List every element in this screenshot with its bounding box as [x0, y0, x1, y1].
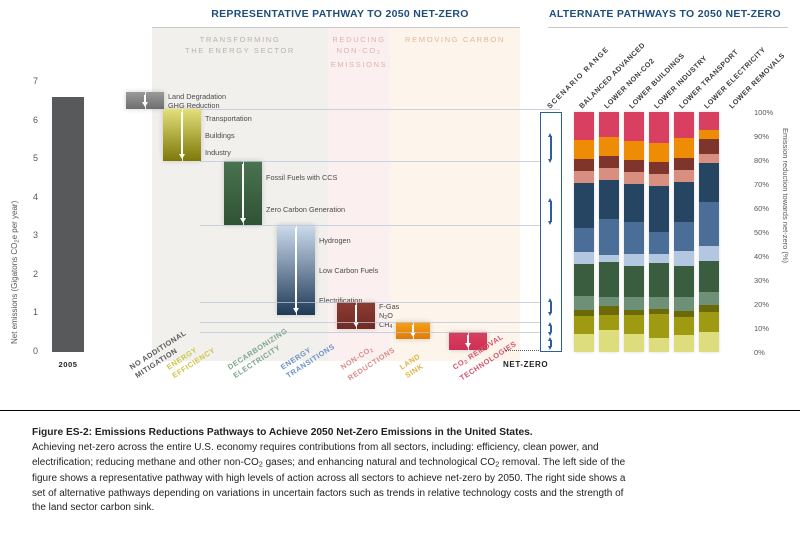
stack-segment-electrification: [624, 184, 644, 222]
stack-segment-transportation: [624, 334, 644, 352]
stacked-bar-lower-non-co2: [599, 112, 619, 352]
y-axis-tick: 5: [12, 153, 38, 163]
stack-segment-buildings: [699, 312, 719, 333]
stack-segment-low-carbon-fuels: [674, 222, 694, 251]
stack-segment-co2-removal-technologies: [624, 112, 644, 141]
stack-segment-f-gas-n2o: [574, 171, 594, 183]
stack-segment-zero-carbon-generation: [674, 266, 694, 297]
scenario-range-box: [540, 112, 562, 352]
stack-segment-land-sink: [599, 137, 619, 156]
stack-segment-co2-removal-technologies: [599, 112, 619, 137]
stack-segment-low-carbon-fuels: [699, 202, 719, 246]
stacked-bar-lower-electricity: [699, 112, 719, 352]
panel-label-line3: EMISSIONS: [331, 60, 388, 69]
stack-segment-land-sink: [674, 138, 694, 157]
stack-segment-co2-removal-technologies: [699, 112, 719, 130]
alt-x-label-scenario-range: SCENARIO RANGE: [545, 45, 611, 111]
segment-label: F-Gas: [379, 302, 399, 311]
stack-segment-buildings: [624, 315, 644, 334]
connector-gridline: [200, 161, 560, 162]
panel-label-line2: THE ENERGY SECTOR: [185, 46, 295, 55]
panel-label-removing: REMOVING CARBON: [390, 34, 520, 45]
right-axis-tick: 10%: [754, 324, 769, 333]
stack-segment-f-gas-n2o: [649, 174, 669, 186]
stack-segment-hydrogen: [599, 255, 619, 262]
connector-gridline: [200, 225, 560, 226]
stack-segment-f-gas-n2o: [674, 170, 694, 182]
panel-label-line1: REDUCING: [332, 35, 385, 44]
stack-segment-electrification: [699, 163, 719, 202]
stack-segment-ch4: [699, 139, 719, 153]
right-axis-tick: 60%: [754, 204, 769, 213]
stack-segment-zero-carbon-generation: [649, 263, 669, 297]
section-title-representative: REPRESENTATIVE PATHWAY TO 2050 NET-ZERO: [160, 8, 520, 20]
waterfall-bar-no-additional-mitigation: [126, 92, 164, 109]
stack-segment-electrification: [674, 182, 694, 223]
connector-gridline: [200, 322, 560, 323]
stack-segment-transportation: [574, 334, 594, 352]
stack-segment-ch4: [649, 162, 669, 174]
stacked-bar-lower-transport: [674, 112, 694, 352]
stack-segment-fossil-fuels-with-ccs: [699, 292, 719, 305]
segment-label: Industry: [205, 148, 231, 157]
stack-segment-hydrogen: [699, 246, 719, 260]
stack-segment-co2-removal-technologies: [574, 112, 594, 140]
caption-title: Figure ES-2: Emissions Reductions Pathwa…: [32, 425, 766, 440]
stack-segment-low-carbon-fuels: [574, 228, 594, 252]
stacked-bar-lower-industry: [649, 112, 669, 352]
net-zero-label: NET-ZERO: [503, 360, 548, 369]
stack-segment-transportation: [699, 332, 719, 352]
segment-label: Transportation: [205, 114, 252, 123]
range-arrow-icon: [550, 136, 551, 159]
right-axis-tick: 30%: [754, 276, 769, 285]
stack-segment-co2-removal-technologies: [649, 112, 669, 143]
range-arrow-icon: [550, 302, 551, 313]
stack-segment-ch4: [674, 158, 694, 170]
stack-segment-fossil-fuels-with-ccs: [624, 297, 644, 310]
connector-gridline: [200, 332, 560, 333]
panel-label-line1: TRANSFORMING: [200, 35, 281, 44]
y-axis-title: Net emissions (Gigatons CO2e per year): [10, 201, 20, 344]
stack-segment-buildings: [674, 317, 694, 335]
range-arrow-icon: [550, 326, 551, 332]
panel-label-transforming: TRANSFORMING THE ENERGY SECTOR: [152, 34, 328, 56]
stack-segment-land-sink: [699, 130, 719, 139]
panel-removing-carbon: [390, 28, 520, 361]
right-axis-tick: 70%: [754, 180, 769, 189]
y-axis-tick: 0: [12, 346, 38, 356]
section-title-alternate: ALTERNATE PATHWAYS TO 2050 NET-ZERO: [540, 8, 790, 20]
section-rule-right: [548, 27, 788, 28]
stack-segment-fossil-fuels-with-ccs: [649, 297, 669, 309]
segment-label: Land Degradation: [168, 92, 226, 101]
stack-segment-low-carbon-fuels: [599, 219, 619, 255]
stack-segment-zero-carbon-generation: [599, 262, 619, 297]
stack-segment-land-sink: [574, 140, 594, 159]
right-axis-tick: 50%: [754, 228, 769, 237]
stack-segment-f-gas-n2o: [624, 172, 644, 184]
stack-segment-hydrogen: [624, 254, 644, 266]
caption-body-part2: gases; and enhancing natural and technol…: [263, 457, 495, 468]
stack-segment-hydrogen: [674, 251, 694, 265]
stack-segment-low-carbon-fuels: [649, 232, 669, 254]
panel-label-line1: REMOVING CARBON: [405, 35, 505, 44]
stack-segment-hydrogen: [649, 254, 669, 264]
panel-label-line2: NON-CO2: [336, 46, 381, 55]
y-axis-tick: 7: [12, 76, 38, 86]
waterfall-bar-land-sink: [396, 322, 430, 339]
stack-segment-transportation: [649, 338, 669, 352]
right-axis-tick: 100%: [754, 108, 773, 117]
stack-segment-electrification: [574, 183, 594, 229]
stack-segment-electrification: [649, 186, 669, 232]
stack-segment-ch4: [574, 159, 594, 171]
stack-segment-zero-carbon-generation: [624, 266, 644, 297]
stack-segment-electrification: [599, 180, 619, 218]
stack-segment-co2-removal-technologies: [674, 112, 694, 138]
downward-arrow-icon: [355, 305, 357, 323]
downward-arrow-icon: [467, 335, 469, 344]
segment-label: Low Carbon Fuels: [319, 266, 378, 275]
bar-2005: [52, 97, 84, 352]
downward-arrow-icon: [181, 112, 183, 155]
segment-label: Zero Carbon Generation: [266, 205, 345, 214]
stacked-bar-lower-buildings: [624, 112, 644, 352]
right-axis-tick: 90%: [754, 132, 769, 141]
right-axis-tick: 20%: [754, 300, 769, 309]
segment-label: Fossil Fuels with CCS: [266, 173, 337, 182]
range-arrow-icon: [550, 201, 551, 222]
stack-segment-transportation: [674, 335, 694, 352]
figure-es-2: REPRESENTATIVE PATHWAY TO 2050 NET-ZERO …: [0, 0, 800, 410]
right-axis-tick: 40%: [754, 252, 769, 261]
downward-arrow-icon: [242, 164, 244, 219]
right-axis-tick: 0%: [754, 348, 765, 357]
stack-segment-ch4: [624, 160, 644, 172]
stack-segment-buildings: [599, 315, 619, 331]
stack-segment-transportation: [599, 330, 619, 352]
stack-segment-industry: [599, 306, 619, 314]
connector-gridline: [200, 302, 560, 303]
downward-arrow-icon: [295, 228, 297, 310]
range-arrow-icon: [550, 340, 551, 346]
stack-segment-zero-carbon-generation: [574, 264, 594, 295]
stack-segment-low-carbon-fuels: [624, 222, 644, 253]
segment-label: Buildings: [205, 131, 235, 140]
stack-segment-ch4: [599, 156, 619, 168]
stack-segment-fossil-fuels-with-ccs: [574, 296, 594, 310]
stack-segment-buildings: [574, 316, 594, 334]
stack-segment-fossil-fuels-with-ccs: [599, 297, 619, 307]
connector-gridline: [200, 109, 560, 110]
stack-segment-f-gas-n2o: [699, 154, 719, 163]
stack-segment-hydrogen: [574, 252, 594, 264]
stack-segment-land-sink: [624, 141, 644, 160]
waterfall-bar-energy-efficiency: [163, 109, 201, 161]
figure-caption: Figure ES-2: Emissions Reductions Pathwa…: [0, 410, 800, 534]
downward-arrow-icon: [144, 95, 146, 103]
stacked-bar-balanced-advanced: [574, 112, 594, 352]
x-label-2005: 2005: [52, 360, 84, 369]
stack-segment-fossil-fuels-with-ccs: [674, 297, 694, 311]
y-axis-tick: 6: [12, 115, 38, 125]
stack-segment-land-sink: [649, 143, 669, 162]
stack-segment-f-gas-n2o: [599, 168, 619, 180]
panel-label-reducing: REDUCING NON-CO2 EMISSIONS: [328, 34, 390, 70]
waterfall-bar-non-co2-reductions: [337, 302, 375, 329]
right-axis-tick: 80%: [754, 156, 769, 165]
caption-body: Achieving net-zero across the entire U.S…: [32, 441, 632, 516]
waterfall-bar-decarbonizing-electricity: [224, 161, 262, 225]
stack-segment-zero-carbon-generation: [699, 261, 719, 292]
right-axis-title: Emission reduction towards net-zero (%): [781, 128, 790, 263]
stack-segment-buildings: [649, 314, 669, 338]
segment-label: Hydrogen: [319, 236, 351, 245]
